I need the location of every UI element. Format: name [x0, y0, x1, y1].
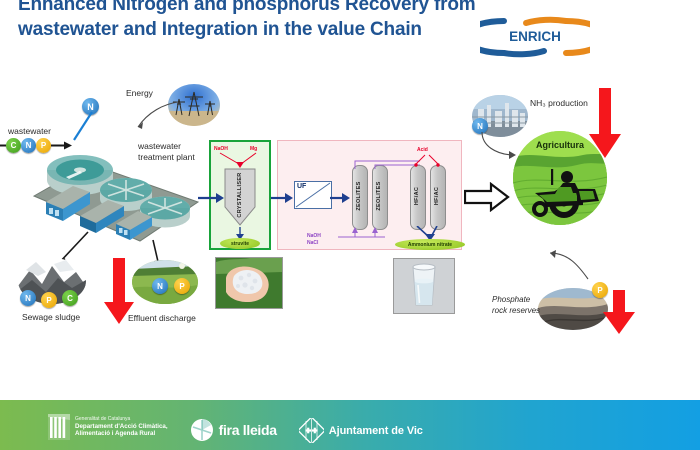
- generalitat-line-2: Departament d'Acció Climàtica,: [75, 423, 168, 430]
- generalitat-shield-icon: [48, 414, 70, 440]
- plant-label-line-1: wastewater: [138, 141, 181, 151]
- footer-bar: Generalitat de Catalunya Departament d'A…: [0, 400, 700, 450]
- plant-label-line-2: treatment plant: [138, 152, 195, 162]
- logo-ajuntament-vic: Ajuntament de Vic: [299, 418, 423, 443]
- ajuntament-vic-crest-icon: [299, 418, 324, 443]
- agriculture-illustration: Agricultura: [513, 131, 607, 225]
- uf-label: UF: [297, 183, 306, 190]
- struvite-granules-photo: [215, 257, 283, 309]
- ajuntament-vic-text: Ajuntament de Vic: [329, 425, 423, 437]
- red-down-arrow-effluent: [103, 258, 135, 326]
- hfac-column-1-label: HF/AC: [414, 176, 420, 216]
- hfac-column-2-label: HF/AC: [434, 176, 440, 216]
- chip-phosphorus-effluent: P: [174, 278, 190, 294]
- chip-carbon-sludge: C: [62, 290, 78, 306]
- slide-canvas: Enhanced Nitrogen and phosphorus Recover…: [0, 0, 700, 450]
- zeolite-regen-nacl: NaCl: [307, 240, 318, 246]
- chip-phosphorus-sludge: P: [41, 292, 57, 308]
- title-line-1: Enhanced Nitrogen and phosphorus Recover…: [18, 0, 488, 17]
- ammonium-nitrate-output-pill: Ammonium nitrate: [395, 239, 465, 250]
- generalitat-line-3: Alimentació i Agenda Rural: [75, 430, 168, 437]
- logo-generalitat-catalunya: Generalitat de Catalunya Departament d'A…: [48, 414, 168, 440]
- logo-fira-lleida: fira lleida: [190, 418, 277, 442]
- phosphate-label-line-2: rock reserves: [492, 306, 540, 315]
- fira-lleida-pinwheel-icon: [190, 418, 214, 442]
- process-to-agriculture-arrow: [464, 182, 510, 212]
- agriculture-label: Agricultura: [513, 140, 607, 150]
- chip-nitrogen-effluent: N: [152, 278, 168, 294]
- hfac-acid-input-lines: [405, 152, 451, 168]
- zeolite-regen-naoh: NaOH: [307, 233, 321, 239]
- chip-nitrogen-sludge: N: [20, 290, 36, 306]
- phosphate-label-line-1: Phosphate: [492, 295, 530, 304]
- red-down-arrow-phosphate: [602, 290, 636, 336]
- struvite-output-pill: struvite: [220, 238, 260, 249]
- feed-to-crystalliser-arrow: [198, 191, 226, 205]
- crystalliser-label: CRYSTALLISER: [237, 170, 243, 220]
- ammonium-nitrate-solution-photo: [393, 258, 455, 314]
- fira-lleida-text: fira lleida: [219, 422, 277, 438]
- title-line-2: wastewater and Integration in the value …: [18, 17, 488, 42]
- ammonia-production-label: NH₃ production: [530, 98, 588, 108]
- enrich-logo: ENRICH: [480, 12, 590, 62]
- generalitat-line-1: Generalitat de Catalunya: [75, 416, 168, 422]
- crystalliser-to-uf-arrow: [271, 191, 295, 205]
- footer-logo-group: Generalitat de Catalunya Departament d'A…: [48, 414, 423, 443]
- enrich-logo-text: ENRICH: [509, 29, 561, 44]
- effluent-discharge-label: Effluent discharge: [128, 313, 196, 323]
- page-title: Enhanced Nitrogen and phosphorus Recover…: [18, 0, 488, 42]
- sewage-sludge-label: Sewage sludge: [22, 312, 80, 322]
